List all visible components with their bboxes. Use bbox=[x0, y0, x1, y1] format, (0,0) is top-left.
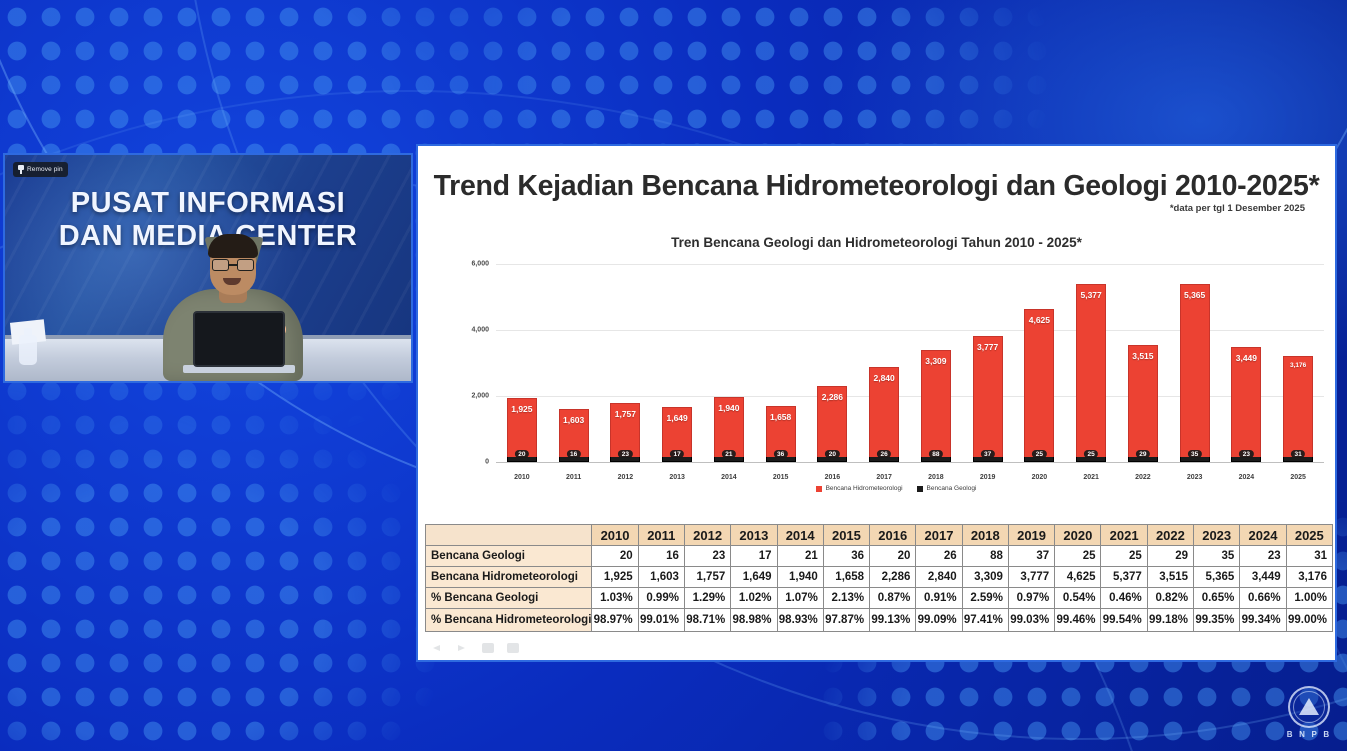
table-cell[interactable]: 37 bbox=[1008, 546, 1054, 567]
table-cell[interactable]: 26 bbox=[916, 546, 962, 567]
bar-chart[interactable]: 02,0004,0006,000 1,9252020101,6031620111… bbox=[456, 258, 1336, 488]
table-cell[interactable]: 97.41% bbox=[962, 609, 1008, 632]
bar-segment-hidrometeorologi[interactable]: 1,925 bbox=[507, 398, 537, 457]
bar-value-label-geologi: 29 bbox=[1136, 450, 1150, 458]
table-cell[interactable]: 99.03% bbox=[1008, 609, 1054, 632]
bar-segment-hidrometeorologi[interactable]: 3,309 bbox=[921, 350, 951, 457]
bar-segment-hidrometeorologi[interactable]: 2,840 bbox=[869, 367, 899, 457]
table-cell[interactable]: 3,777 bbox=[1008, 567, 1054, 588]
table-cell[interactable]: 1,649 bbox=[731, 567, 777, 588]
table-cell[interactable]: 5,365 bbox=[1194, 567, 1240, 588]
presenter-hair bbox=[208, 234, 258, 258]
table-cell[interactable]: 2.59% bbox=[962, 588, 1008, 609]
data-table-container[interactable]: 2010201120122013201420152016201720182019… bbox=[425, 524, 1333, 632]
bar-value-label-hidrometeorologi: 5,377 bbox=[1077, 290, 1105, 300]
table-cell[interactable]: 3,309 bbox=[962, 567, 1008, 588]
bnpb-emblem-icon bbox=[1288, 686, 1330, 728]
chart-legend: Bencana HidrometeorologiBencana Geologi bbox=[456, 485, 1336, 492]
legend-label: Bencana Hidrometeorologi bbox=[826, 485, 903, 492]
table-row-label[interactable]: % Bencana Hidrometeorologi bbox=[426, 609, 592, 632]
bar-value-label-hidrometeorologi: 3,515 bbox=[1129, 351, 1157, 361]
bar-value-label-geologi: 26 bbox=[877, 450, 891, 458]
y-axis-tick-label: 6,000 bbox=[471, 261, 489, 268]
chart-bar-column[interactable]: 1,649172013 bbox=[651, 264, 703, 462]
table-column-header[interactable]: 2022 bbox=[1147, 525, 1193, 546]
table-row: % Bencana Hidrometeorologi98.97%99.01%98… bbox=[426, 609, 1333, 632]
table-row-label[interactable]: Bencana Geologi bbox=[426, 546, 592, 567]
table-cell[interactable]: 5,377 bbox=[1101, 567, 1147, 588]
table-cell[interactable]: 1,940 bbox=[777, 567, 823, 588]
bar-segment-hidrometeorologi[interactable]: 2,286 bbox=[817, 386, 847, 457]
x-axis-tick-label: 2021 bbox=[1065, 474, 1117, 481]
bar-value-label-hidrometeorologi: 1,649 bbox=[663, 413, 691, 423]
table-cell[interactable]: 0.65% bbox=[1194, 588, 1240, 609]
table-cell[interactable]: 98.71% bbox=[684, 609, 730, 632]
table-cell[interactable]: 99.00% bbox=[1286, 609, 1332, 632]
table-cell[interactable]: 20 bbox=[870, 546, 916, 567]
bar-segment-hidrometeorologi[interactable]: 5,377 bbox=[1076, 284, 1106, 457]
x-axis-tick-label: 2014 bbox=[703, 474, 755, 481]
table-cell[interactable]: 17 bbox=[731, 546, 777, 567]
table-cell[interactable]: 98.97% bbox=[592, 609, 638, 632]
remove-pin-button[interactable]: Remove pin bbox=[13, 162, 68, 177]
table-cell[interactable]: 98.98% bbox=[731, 609, 777, 632]
x-axis-tick-label: 2015 bbox=[755, 474, 807, 481]
chart-bar-column[interactable]: 2,840262017 bbox=[858, 264, 910, 462]
table-cell[interactable]: 1,925 bbox=[592, 567, 638, 588]
bar-value-label-geologi: 36 bbox=[774, 450, 788, 458]
bar-segment-hidrometeorologi[interactable]: 1,940 bbox=[714, 397, 744, 457]
table-cell[interactable]: 1.03% bbox=[592, 588, 638, 609]
x-axis-tick-label: 2018 bbox=[910, 474, 962, 481]
bar-segment-hidrometeorologi[interactable]: 1,757 bbox=[610, 403, 640, 457]
bar-value-label-geologi: 20 bbox=[515, 450, 529, 458]
table-column-header[interactable]: 2024 bbox=[1240, 525, 1286, 546]
chart-bar-column[interactable]: 3,449232024 bbox=[1221, 264, 1273, 462]
bar-value-label-hidrometeorologi: 3,777 bbox=[974, 342, 1002, 352]
bar-value-label-geologi: 37 bbox=[981, 450, 995, 458]
bnpb-logo-text: B N P B bbox=[1287, 730, 1332, 739]
table-cell[interactable]: 4,625 bbox=[1055, 567, 1101, 588]
table-column-header[interactable]: 2012 bbox=[684, 525, 730, 546]
video-participant-tile[interactable]: PUSAT INFORMASI DAN MEDIA CENTER Remove … bbox=[3, 153, 413, 383]
table-cell[interactable]: 23 bbox=[1240, 546, 1286, 567]
x-axis-tick-label: 2020 bbox=[1014, 474, 1066, 481]
slide-title: Trend Kejadian Bencana Hidrometeorologi … bbox=[418, 170, 1335, 203]
x-axis-tick-label: 2010 bbox=[496, 474, 548, 481]
bar-segment-hidrometeorologi[interactable]: 5,365 bbox=[1180, 284, 1210, 457]
chart-bar-column[interactable]: 3,309882018 bbox=[910, 264, 962, 462]
table-column-header[interactable]: 2020 bbox=[1055, 525, 1101, 546]
table-row: Bencana Hidrometeorologi1,9251,6031,7571… bbox=[426, 567, 1333, 588]
chart-bar-column[interactable]: 3,515292022 bbox=[1117, 264, 1169, 462]
table-cell[interactable]: 1,603 bbox=[638, 567, 684, 588]
table-cell[interactable]: 3,515 bbox=[1147, 567, 1193, 588]
table-cell[interactable]: 25 bbox=[1101, 546, 1147, 567]
bar-segment-hidrometeorologi[interactable]: 3,449 bbox=[1231, 347, 1261, 457]
chart-bar-column[interactable]: 5,365352023 bbox=[1169, 264, 1221, 462]
table-column-header[interactable]: 2016 bbox=[870, 525, 916, 546]
sheet-tab-icon[interactable] bbox=[507, 643, 519, 653]
table-cell[interactable]: 2,286 bbox=[870, 567, 916, 588]
x-axis-tick-label: 2019 bbox=[962, 474, 1014, 481]
chart-gridline: 0 bbox=[496, 462, 1324, 463]
table-cell[interactable]: 0.66% bbox=[1240, 588, 1286, 609]
table-column-header[interactable]: 2017 bbox=[916, 525, 962, 546]
laptop-screen bbox=[193, 311, 285, 367]
table-cell[interactable]: 36 bbox=[823, 546, 869, 567]
presenter-glasses bbox=[211, 259, 255, 271]
table-cell[interactable]: 23 bbox=[684, 546, 730, 567]
remove-pin-label: Remove pin bbox=[27, 166, 63, 173]
table-body: Bencana Geologi2016231721362026883725252… bbox=[426, 546, 1333, 632]
table-cell[interactable]: 98.93% bbox=[777, 609, 823, 632]
bar-segment-hidrometeorologi[interactable]: 4,625 bbox=[1024, 309, 1054, 457]
bar-value-label-hidrometeorologi: 2,286 bbox=[818, 392, 846, 402]
table-column-header[interactable]: 2025 bbox=[1286, 525, 1332, 546]
x-axis-tick-label: 2017 bbox=[858, 474, 910, 481]
y-axis-tick-label: 2,000 bbox=[471, 393, 489, 400]
bar-value-label-hidrometeorologi: 5,365 bbox=[1181, 290, 1209, 300]
bar-value-label-geologi: 16 bbox=[567, 450, 581, 458]
table-cell[interactable]: 29 bbox=[1147, 546, 1193, 567]
chart-bar-column[interactable]: 1,925202010 bbox=[496, 264, 548, 462]
table-row: % Bencana Geologi1.03%0.99%1.29%1.02%1.0… bbox=[426, 588, 1333, 609]
table-cell[interactable]: 35 bbox=[1194, 546, 1240, 567]
bar-value-label-geologi: 31 bbox=[1291, 450, 1305, 458]
sheet-tab-icon[interactable] bbox=[482, 643, 494, 653]
table-cell[interactable]: 0.97% bbox=[1008, 588, 1054, 609]
table-cell[interactable]: 25 bbox=[1055, 546, 1101, 567]
bar-value-label-geologi: 23 bbox=[618, 450, 632, 458]
chart-plot-area: 02,0004,0006,000 1,9252020101,6031620111… bbox=[496, 264, 1324, 462]
next-sheet-icon[interactable] bbox=[457, 643, 469, 653]
table-cell[interactable]: 1.29% bbox=[684, 588, 730, 609]
x-axis-tick-label: 2022 bbox=[1117, 474, 1169, 481]
bnpb-logo: B N P B bbox=[1280, 683, 1338, 741]
chart-bar-column[interactable]: 1,658362015 bbox=[755, 264, 807, 462]
bar-segment-hidrometeorologi[interactable]: 3,176 bbox=[1283, 356, 1313, 457]
y-axis-tick-label: 0 bbox=[485, 459, 489, 466]
x-axis-tick-label: 2024 bbox=[1221, 474, 1273, 481]
table-cell[interactable]: 99.46% bbox=[1055, 609, 1101, 632]
slide-data-note: *data per tgl 1 Desember 2025 bbox=[1170, 203, 1305, 214]
x-axis-tick-label: 2011 bbox=[548, 474, 600, 481]
x-axis-tick-label: 2016 bbox=[807, 474, 859, 481]
previous-sheet-icon[interactable] bbox=[432, 643, 444, 653]
table-cell[interactable]: 3,449 bbox=[1240, 567, 1286, 588]
pin-icon bbox=[18, 165, 24, 174]
disaster-data-table: 2010201120122013201420152016201720182019… bbox=[425, 524, 1333, 632]
table-column-header[interactable]: 2015 bbox=[823, 525, 869, 546]
bar-value-label-geologi: 25 bbox=[1084, 450, 1098, 458]
table-cell[interactable]: 99.34% bbox=[1240, 609, 1286, 632]
table-row: Bencana Geologi2016231721362026883725252… bbox=[426, 546, 1333, 567]
bar-segment-hidrometeorologi[interactable]: 3,515 bbox=[1128, 345, 1158, 457]
bar-value-label-hidrometeorologi: 3,176 bbox=[1284, 362, 1312, 369]
y-axis-tick-label: 4,000 bbox=[471, 327, 489, 334]
chart-bar-column[interactable]: 5,377252021 bbox=[1065, 264, 1117, 462]
bar-value-label-hidrometeorologi: 1,757 bbox=[611, 409, 639, 419]
x-axis-tick-label: 2012 bbox=[600, 474, 652, 481]
table-cell[interactable]: 1,757 bbox=[684, 567, 730, 588]
bar-value-label-geologi: 35 bbox=[1188, 450, 1202, 458]
chart-bars: 1,9252020101,6031620111,7572320121,64917… bbox=[496, 264, 1324, 462]
table-cell[interactable]: 97.87% bbox=[823, 609, 869, 632]
table-cell[interactable]: 99.13% bbox=[870, 609, 916, 632]
legend-item[interactable]: Bencana Hidrometeorologi bbox=[816, 485, 903, 492]
bar-value-label-geologi: 21 bbox=[722, 450, 736, 458]
bnpb-triangle-icon bbox=[1299, 698, 1319, 715]
table-cell[interactable]: 99.18% bbox=[1147, 609, 1193, 632]
chart-bar-column[interactable]: 3,777372019 bbox=[962, 264, 1014, 462]
x-axis-tick-label: 2023 bbox=[1169, 474, 1221, 481]
table-header-row: 2010201120122013201420152016201720182019… bbox=[426, 525, 1333, 546]
chart-bar-column[interactable]: 2,286202016 bbox=[807, 264, 859, 462]
bar-value-label-hidrometeorologi: 4,625 bbox=[1025, 315, 1053, 325]
chart-title: Tren Bencana Geologi dan Hidrometeorolog… bbox=[418, 235, 1335, 250]
bar-value-label-hidrometeorologi: 3,449 bbox=[1232, 353, 1260, 363]
legend-item[interactable]: Bencana Geologi bbox=[917, 485, 977, 492]
shared-slide-panel[interactable]: Trend Kejadian Bencana Hidrometeorologi … bbox=[416, 144, 1337, 662]
chart-bar-column[interactable]: 1,603162011 bbox=[548, 264, 600, 462]
x-axis-tick-label: 2025 bbox=[1272, 474, 1324, 481]
table-row-label[interactable]: Bencana Hidrometeorologi bbox=[426, 567, 592, 588]
table-cell[interactable]: 1,658 bbox=[823, 567, 869, 588]
chart-bar-column[interactable]: 1,940212014 bbox=[703, 264, 755, 462]
legend-color-swatch bbox=[917, 486, 923, 492]
bar-segment-hidrometeorologi[interactable]: 3,777 bbox=[973, 336, 1003, 457]
table-cell[interactable]: 99.54% bbox=[1101, 609, 1147, 632]
chart-bar-column[interactable]: 3,176312025 bbox=[1272, 264, 1324, 462]
table-cell[interactable]: 1.07% bbox=[777, 588, 823, 609]
table-cell[interactable]: 99.35% bbox=[1194, 609, 1240, 632]
table-corner-cell bbox=[426, 525, 592, 546]
table-cell[interactable]: 3,176 bbox=[1286, 567, 1332, 588]
table-cell[interactable]: 16 bbox=[638, 546, 684, 567]
table-cell[interactable]: 21 bbox=[777, 546, 823, 567]
table-column-header[interactable]: 2013 bbox=[731, 525, 777, 546]
table-row-label[interactable]: % Bencana Geologi bbox=[426, 588, 592, 609]
table-cell[interactable]: 2,840 bbox=[916, 567, 962, 588]
bar-value-label-hidrometeorologi: 3,309 bbox=[922, 356, 950, 366]
legend-color-swatch bbox=[816, 486, 822, 492]
bar-value-label-hidrometeorologi: 1,940 bbox=[715, 403, 743, 413]
table-cell[interactable]: 1.00% bbox=[1286, 588, 1332, 609]
table-column-header[interactable]: 2014 bbox=[777, 525, 823, 546]
table-cell[interactable]: 0.54% bbox=[1055, 588, 1101, 609]
bar-value-label-hidrometeorologi: 1,658 bbox=[767, 412, 795, 422]
table-cell[interactable]: 0.91% bbox=[916, 588, 962, 609]
table-cell[interactable]: 20 bbox=[592, 546, 638, 567]
bar-value-label-geologi: 23 bbox=[1239, 450, 1253, 458]
table-cell[interactable]: 1.02% bbox=[731, 588, 777, 609]
table-column-header[interactable]: 2018 bbox=[962, 525, 1008, 546]
legend-label: Bencana Geologi bbox=[927, 485, 977, 492]
chart-bar-column[interactable]: 4,625252020 bbox=[1014, 264, 1066, 462]
x-axis-tick-label: 2013 bbox=[651, 474, 703, 481]
studio-headline-line1: PUSAT INFORMASI bbox=[5, 187, 411, 220]
table-column-header[interactable]: 2021 bbox=[1101, 525, 1147, 546]
bar-value-label-geologi: 17 bbox=[670, 450, 684, 458]
table-cell[interactable]: 99.01% bbox=[638, 609, 684, 632]
table-cell[interactable]: 88 bbox=[962, 546, 1008, 567]
bar-value-label-geologi: 20 bbox=[825, 450, 839, 458]
table-cell[interactable]: 0.82% bbox=[1147, 588, 1193, 609]
bar-value-label-geologi: 25 bbox=[1032, 450, 1046, 458]
table-cell[interactable]: 0.46% bbox=[1101, 588, 1147, 609]
table-cell[interactable]: 2.13% bbox=[823, 588, 869, 609]
bar-value-label-hidrometeorologi: 1,925 bbox=[508, 404, 536, 414]
sheet-navigation-icons[interactable] bbox=[432, 643, 519, 653]
bar-value-label-hidrometeorologi: 2,840 bbox=[870, 373, 898, 383]
table-column-header[interactable]: 2011 bbox=[638, 525, 684, 546]
desk-water-bottle bbox=[19, 335, 37, 365]
bar-value-label-geologi: 88 bbox=[929, 450, 943, 458]
table-column-header[interactable]: 2010 bbox=[592, 525, 638, 546]
chart-bar-column[interactable]: 1,757232012 bbox=[600, 264, 652, 462]
table-column-header[interactable]: 2019 bbox=[1008, 525, 1054, 546]
table-cell[interactable]: 0.99% bbox=[638, 588, 684, 609]
table-column-header[interactable]: 2023 bbox=[1194, 525, 1240, 546]
table-cell[interactable]: 31 bbox=[1286, 546, 1332, 567]
table-cell[interactable]: 0.87% bbox=[870, 588, 916, 609]
bar-value-label-hidrometeorologi: 1,603 bbox=[560, 415, 588, 425]
table-cell[interactable]: 99.09% bbox=[916, 609, 962, 632]
